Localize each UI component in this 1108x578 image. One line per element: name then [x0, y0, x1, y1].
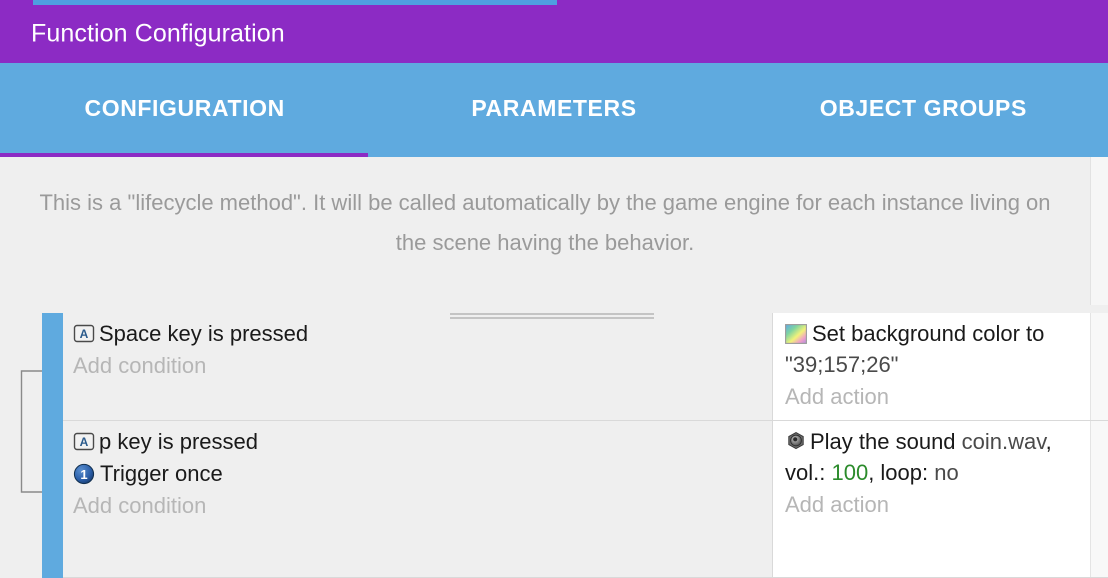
condition-item[interactable]: 1 Trigger once	[73, 459, 772, 490]
sound-icon	[785, 431, 807, 453]
page-title: Function Configuration	[31, 20, 285, 49]
condition-item[interactable]: A Space key is pressed	[73, 319, 772, 350]
conditions-cell[interactable]: A Space key is pressed Add condition	[63, 313, 772, 421]
lifecycle-description-text: This is a "lifecycle method". It will be…	[29, 183, 1061, 263]
action-text: Set background color to	[812, 321, 1044, 346]
action-item[interactable]: Play the sound coin.wav, vol.: 100, loop…	[785, 427, 1090, 489]
conditions-cell[interactable]: A p key is pressed 1	[63, 421, 772, 578]
add-condition-link[interactable]: Add condition	[73, 491, 772, 522]
keyboard-key-icon: A	[73, 323, 95, 345]
events-scrollbar-gutter[interactable]	[1090, 421, 1108, 578]
action-sound-file[interactable]: coin.wav	[962, 429, 1046, 454]
keyboard-key-icon: A	[73, 431, 95, 453]
condition-item[interactable]: A p key is pressed	[73, 427, 772, 458]
action-item[interactable]: Set background color to "39;157;26"	[785, 319, 1090, 381]
add-action-link[interactable]: Add action	[785, 382, 1090, 413]
tab-object-groups[interactable]: OBJECT GROUPS	[739, 63, 1108, 153]
event-selector-bar[interactable]	[42, 421, 63, 578]
dialog-titlebar: Function Configuration	[0, 5, 1108, 63]
event-row: A p key is pressed 1	[0, 421, 1108, 578]
action-loop-value[interactable]: no	[934, 460, 958, 485]
svg-text:A: A	[80, 435, 89, 449]
condition-text: key is pressed	[111, 429, 258, 454]
function-configuration-dialog: Function Configuration CONFIGURATION PAR…	[0, 0, 1108, 578]
tab-configuration[interactable]: CONFIGURATION	[0, 63, 369, 153]
condition-text: key is pressed	[161, 321, 308, 346]
event-selector-bar[interactable]	[42, 313, 63, 421]
svg-text:A: A	[80, 327, 89, 341]
events-scrollbar-gutter[interactable]	[1090, 313, 1108, 421]
add-condition-link[interactable]: Add condition	[73, 351, 772, 382]
action-loop-label: , loop:	[868, 460, 934, 485]
trigger-once-icon: 1	[73, 463, 95, 485]
panel-resize-handle[interactable]	[450, 313, 654, 320]
event-row: A Space key is pressed Add condition	[0, 313, 1108, 421]
tab-bar: CONFIGURATION PARAMETERS OBJECT GROUPS	[0, 63, 1108, 157]
condition-key-value: Space	[99, 321, 161, 346]
tab-parameters[interactable]: PARAMETERS	[369, 63, 738, 153]
color-swatch-icon	[785, 324, 807, 344]
action-text: Play the sound	[810, 429, 962, 454]
action-vol-value[interactable]: 100	[831, 460, 868, 485]
add-action-link[interactable]: Add action	[785, 490, 1090, 521]
lifecycle-description-panel: This is a "lifecycle method". It will be…	[0, 157, 1090, 305]
handle-line	[450, 317, 654, 319]
actions-cell[interactable]: Play the sound coin.wav, vol.: 100, loop…	[772, 421, 1090, 578]
svg-text:1: 1	[80, 467, 87, 482]
events-list: A Space key is pressed Add condition	[0, 305, 1108, 578]
actions-cell[interactable]: Set background color to "39;157;26" Add …	[772, 313, 1090, 421]
condition-key-value: p	[99, 429, 111, 454]
action-color-value[interactable]: "39;157;26"	[785, 352, 899, 377]
handle-line	[450, 313, 654, 315]
description-scrollbar-gutter[interactable]	[1090, 157, 1108, 305]
condition-text: Trigger once	[100, 461, 223, 486]
